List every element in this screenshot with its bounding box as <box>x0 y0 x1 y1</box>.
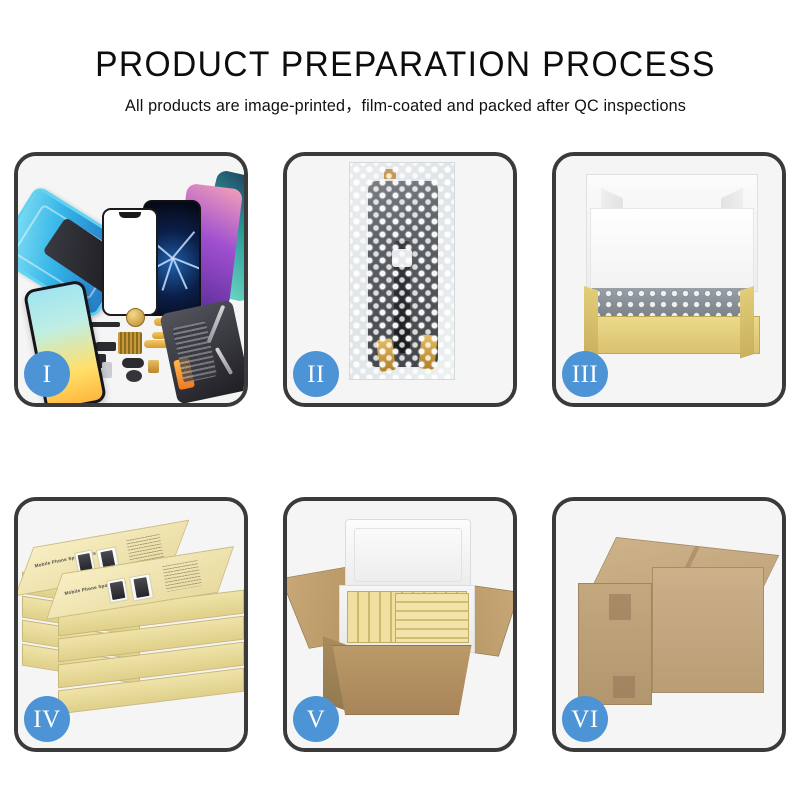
process-step-panel-6[interactable]: VI Sealed brown shipping carton <box>552 497 786 752</box>
step-badge-5: V <box>293 696 339 742</box>
bubble-wrap-bag-icon <box>349 162 455 380</box>
step-badge-2: II <box>293 351 339 397</box>
box-rim-right-icon <box>740 286 754 359</box>
white-screen-glass-icon <box>102 208 158 316</box>
process-step-grid: I Assorted mobile phone screens, LCD ass… <box>14 152 798 752</box>
phone-back-housing-icon <box>159 299 248 404</box>
process-step-panel-5[interactable]: V Open carton with foam liner filled wit… <box>283 497 517 752</box>
battery-contact-icon <box>148 360 159 373</box>
carton-tape-icon-1 <box>609 594 631 620</box>
process-step-panel-3[interactable]: III Open gold box with white foam paddin… <box>552 152 786 407</box>
white-foam-sheet-icon <box>590 208 754 292</box>
connector-icon-1 <box>96 342 116 351</box>
sim-tray-icon <box>102 362 112 378</box>
step-badge-4: IV <box>24 696 70 742</box>
ic-chip-grid-icon <box>118 332 142 354</box>
carton-front-icon <box>323 645 481 715</box>
box-window-lower-1 <box>106 578 129 604</box>
process-step-panel-1[interactable]: I Assorted mobile phone screens, LCD ass… <box>14 152 248 407</box>
vibrator-motor-icon <box>122 358 144 368</box>
box-rim-left-icon <box>584 286 598 359</box>
camera-lens-icon <box>126 308 145 327</box>
page-title: PRODUCT PREPARATION PROCESS <box>16 44 795 86</box>
product-preparation-infographic: PRODUCT PREPARATION PROCESS All products… <box>0 0 811 811</box>
gold-boxes-stack-icon <box>395 593 469 643</box>
process-step-panel-4[interactable]: Mobile Phone Spare Parts Mobile Phone Sp… <box>14 497 248 752</box>
step-badge-1: I <box>24 351 70 397</box>
carton-right-face-icon <box>652 567 764 693</box>
carton-left-face-icon <box>578 583 652 705</box>
step-badge-6: VI <box>562 696 608 742</box>
step-badge-3: III <box>562 351 608 397</box>
bubble-texture-icon <box>350 163 454 379</box>
carton-tape-icon-2 <box>613 676 635 698</box>
gold-box-front-icon <box>584 316 760 354</box>
box-window-lower-2 <box>129 573 154 601</box>
foam-lid-icon <box>345 519 471 591</box>
header: PRODUCT PREPARATION PROCESS All products… <box>0 44 811 117</box>
page-subtitle: All products are image-printed，film-coat… <box>8 95 803 117</box>
process-step-panel-2[interactable]: II Screen assembly sealed in bubble wrap <box>283 152 517 407</box>
speaker-icon <box>126 370 142 382</box>
